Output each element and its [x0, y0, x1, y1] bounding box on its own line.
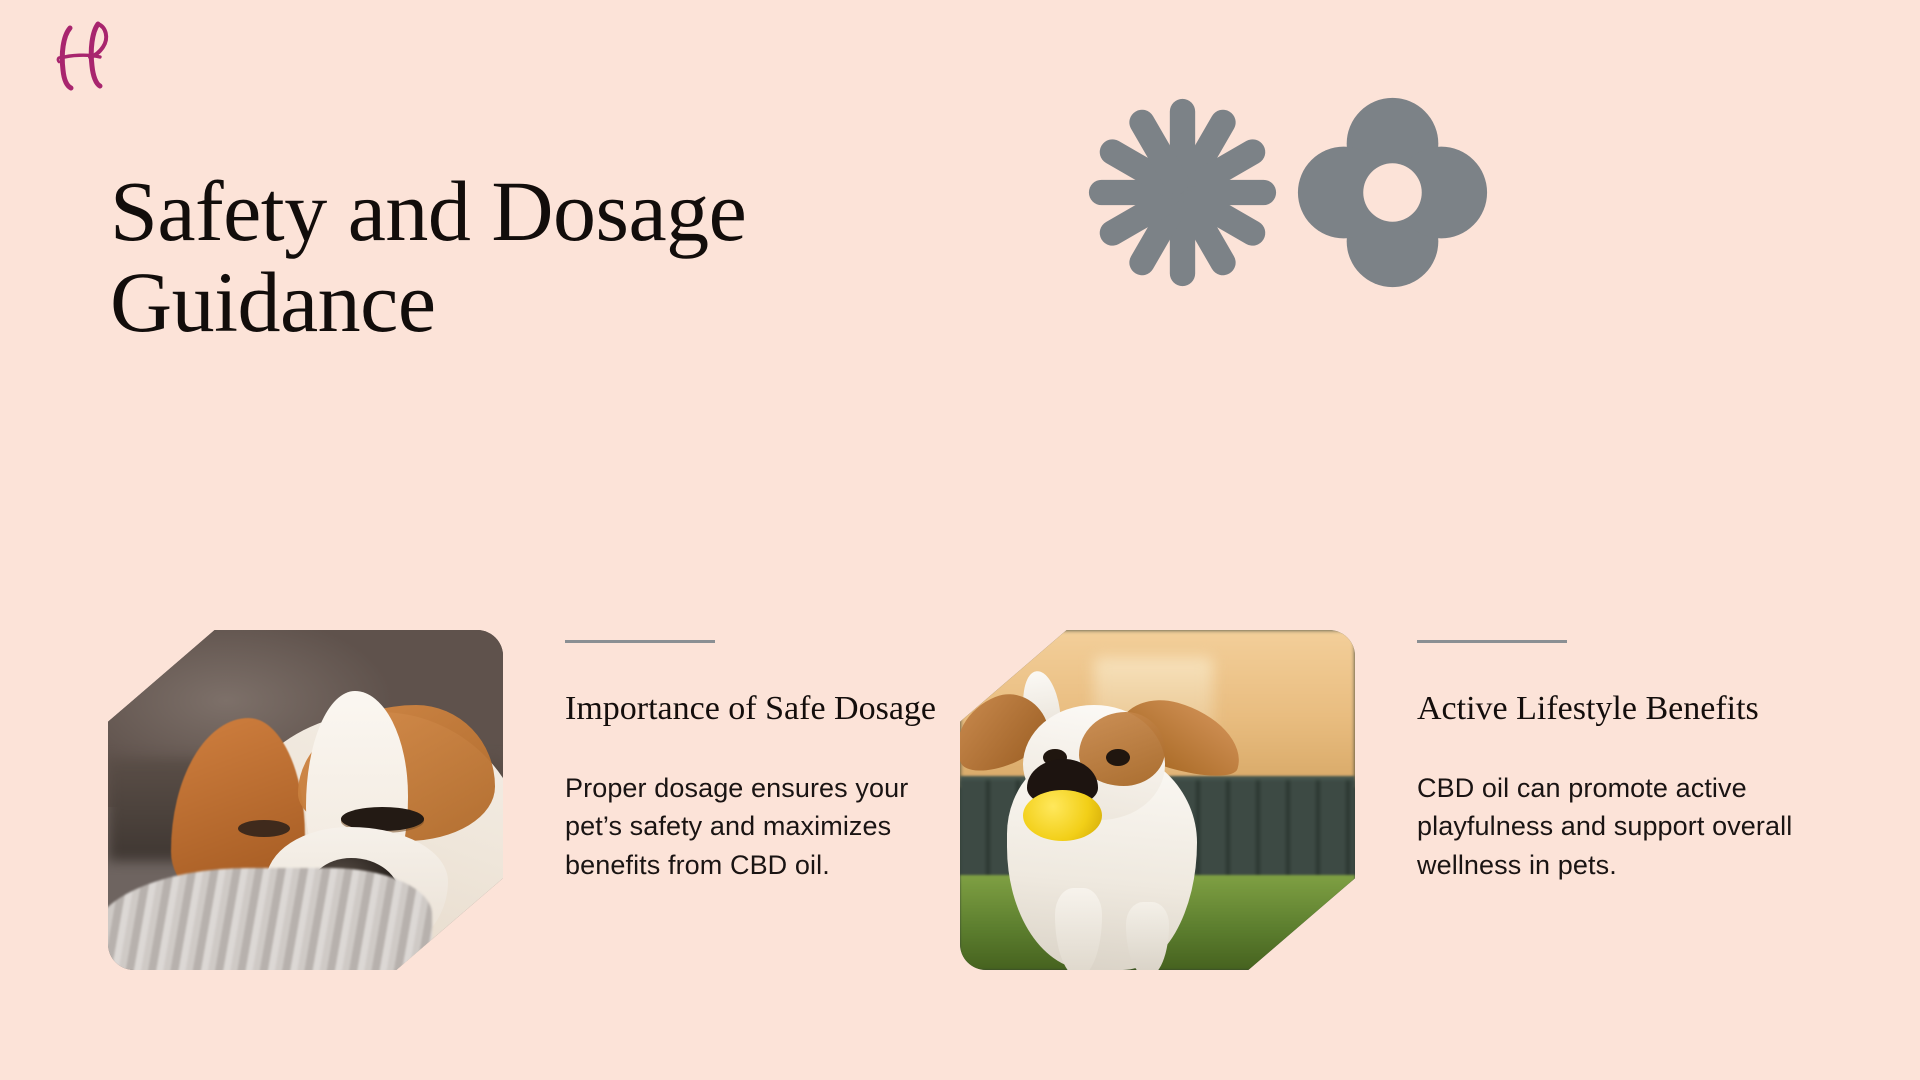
card-heading: Importance of Safe Dosage	[565, 689, 967, 729]
card-heading: Active Lifestyle Benefits	[1417, 689, 1819, 729]
quatrefoil-clover-shape	[1295, 95, 1490, 290]
divider-rule	[1417, 640, 1567, 643]
card-body: CBD oil can promote active playfulness a…	[1417, 769, 1819, 884]
divider-rule	[565, 640, 715, 643]
monogram-h-icon[interactable]	[48, 14, 118, 94]
card-text-block: Importance of Safe Dosage Proper dosage …	[565, 630, 967, 884]
page-title: Safety and Dosage Guidance	[110, 166, 1010, 348]
card-text-block: Active Lifestyle Benefits CBD oil can pr…	[1417, 630, 1819, 884]
content-card: Importance of Safe Dosage Proper dosage …	[108, 630, 967, 970]
asterisk-flower-shape	[1085, 95, 1280, 290]
content-card: Active Lifestyle Benefits CBD oil can pr…	[960, 630, 1819, 970]
slide-root: Safety and Dosage Guidance	[0, 0, 1920, 1080]
jumping-jack-russell-photo	[960, 630, 1355, 970]
sleeping-beagle-photo	[108, 630, 503, 970]
card-body: Proper dosage ensures your pet’s safety …	[565, 769, 967, 884]
